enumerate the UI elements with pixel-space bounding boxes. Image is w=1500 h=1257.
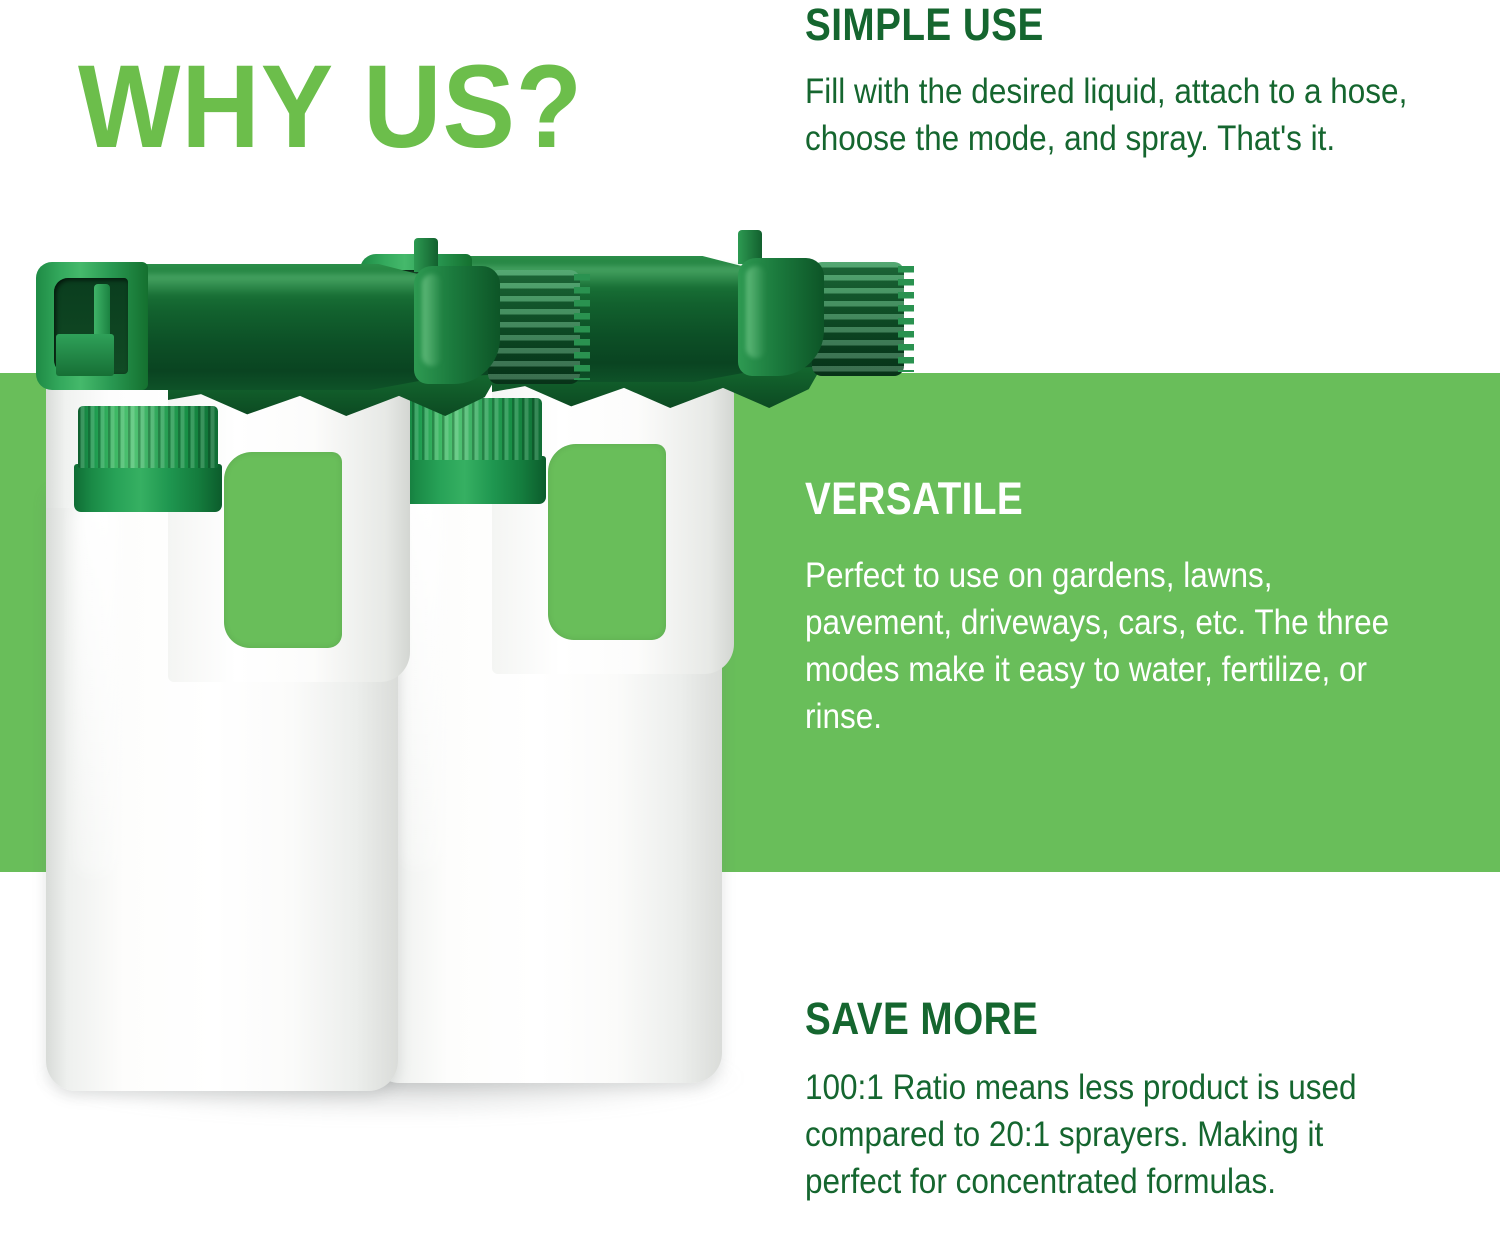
infographic-page: WHY US? [0,0,1500,1257]
collar-base [398,456,546,504]
feature-body: Fill with the desired liquid, attach to … [805,69,1426,163]
feature-body: 100:1 Ratio means less product is used c… [805,1065,1426,1206]
feature-simple-use: SIMPLE USE Fill with the desired liquid,… [805,2,1425,163]
feature-versatile: VERSATILE Perfect to use on gardens, law… [805,476,1425,741]
feature-heading: SAVE MORE [805,996,1338,1041]
bottle-highlight [74,498,120,878]
feature-save-more: SAVE MORE 100:1 Ratio means less product… [805,996,1425,1206]
sprayer-highlight [128,274,458,296]
nozzle-dial-teeth [574,274,590,380]
feature-heading: VERSATILE [805,476,1338,521]
handle-grip-opening [224,452,342,648]
hose-connector-tab [56,334,114,376]
collar-base [74,464,222,512]
sprayer-head [18,248,678,433]
page-title: WHY US? [78,48,583,166]
feature-list: SIMPLE USE Fill with the desired liquid,… [805,0,1445,1257]
product-photo [0,200,790,1160]
mode-lever-highlight [746,266,766,358]
mode-lever-highlight [422,274,442,366]
feature-heading: SIMPLE USE [805,2,1338,47]
feature-body: Perfect to use on gardens, lawns, paveme… [805,553,1426,741]
handle-grip-opening [548,444,666,640]
nozzle-dial-ribs [488,270,580,384]
